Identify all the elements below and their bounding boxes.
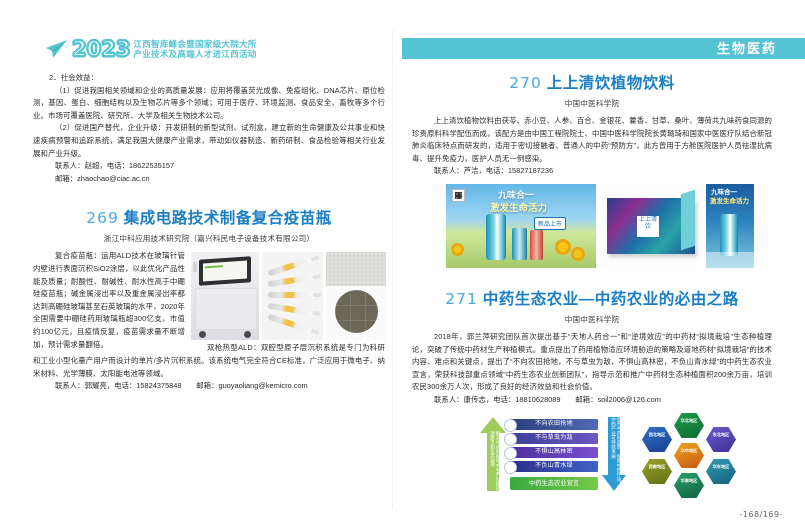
social-benefit-para-1: （1）促进我国相关领域和企业的高质量发展：应用将覆盖荧光成像、免疫组化、DNA芯…	[33, 85, 385, 123]
section-271-title: 271 中药生态农业—中药农业的必由之路	[412, 288, 772, 311]
slogan-text: 不向农田抢地	[535, 421, 573, 427]
hex-region-xinan: 西南地区	[642, 459, 672, 485]
section-271-diagram: 解决中药材掠夺式生产造成的资源匮乏和生态破坏 提升中药材品质，保障中药疗效，促进…	[412, 413, 772, 501]
left-column: 2．社会效益： （1）促进我国相关领域和企业的高质量发展：应用将覆盖荧光成像、免…	[33, 72, 385, 393]
sunflower-field-poster: 九味合一 激发生命活力 新品上市	[446, 184, 596, 268]
page-gutter	[392, 30, 393, 510]
section-270-product-images: 九味合一 激发生命活力 新品上市 上上清饮 九味合一 激发生命活力	[412, 184, 772, 268]
slogan-bar: 不与草虫为敌	[510, 433, 598, 444]
machine-body	[195, 288, 257, 330]
sunflower-icon	[574, 250, 582, 258]
declaration-banner: 中药生态农业宣言	[510, 477, 598, 490]
gift-box-photo: 上上清饮	[601, 184, 701, 268]
section-270-contact: 联系人：芦洁，电话：15827187236	[412, 165, 772, 178]
beverage-can-ice	[720, 214, 738, 256]
section-271-contact: 联系人：康传志，电话：18810628089 邮箱：soil2006@126.c…	[412, 394, 772, 407]
category-label: 生物医药	[717, 40, 777, 57]
machine-control-panel	[199, 257, 251, 287]
hex-region-huadong: 华东地区	[706, 459, 736, 485]
section-270-title: 270 上上清饮植物饮料	[412, 72, 772, 95]
machine-side-port	[193, 262, 197, 272]
section-269-name: 集成电路技术制备复合疫苗瓶	[124, 210, 332, 227]
left-arrow-text: 解决中药材掠夺式生产造成的资源匮乏和生态破坏	[485, 431, 501, 499]
gift-box-label: 上上清饮	[637, 216, 659, 237]
hex-region-huabei: 华北地区	[674, 413, 704, 439]
section-269-title: 269 集成电路技术制备复合疫苗瓶	[33, 207, 385, 230]
section-270-org: 中国中医科学院	[412, 98, 772, 109]
regional-hexagon-diagram: 华北地区 东北地区 西北地区 华中地区 华东地区 西南地区 华南	[640, 413, 740, 499]
qr-code-icon	[452, 189, 465, 202]
poster-line-2: 激发生命活力	[490, 203, 547, 214]
machine-wheel	[199, 331, 206, 338]
logo-subtitle: 江西智库峰会暨国家级大院大所 产业技术及高端人才进江西活动	[133, 39, 256, 60]
section-269-number: 269	[86, 209, 119, 227]
section-269-images	[191, 252, 386, 340]
beverage-can-second	[512, 228, 527, 260]
section-270-number: 270	[509, 74, 542, 92]
poster-line-1: 九味合一	[498, 190, 534, 201]
hex-region-dongbei: 东北地区	[706, 427, 736, 453]
year-2023: 2023	[72, 39, 130, 60]
slogan-bar: 不向农田抢地	[510, 419, 598, 430]
hex-region-name: 华南地区	[681, 478, 698, 483]
section-269-text-column: 复合疫苗瓶：运用ALD技术在玻璃针管内壁进行表面沉积SiO2涂层，以此优化产品性…	[33, 250, 185, 351]
slogan-bar: 不负山青水绿	[510, 461, 598, 472]
slogan-bar: 不惧山高林密	[510, 447, 598, 458]
slogan-text: 不惧山高林密	[535, 449, 573, 455]
section-269-figure-block: 复合疫苗瓶：运用ALD技术在玻璃针管内壁进行表面沉积SiO2涂层，以此优化产品性…	[33, 250, 385, 342]
section-270-name: 上上清饮植物饮料	[547, 75, 675, 92]
contact-line-268: 联系人：赵超，电话：18622535157	[33, 160, 385, 173]
slogan-bars: 不向农田抢地 不与草虫为敌 不惧山高林密 不负山青水绿	[510, 419, 598, 475]
ice-can-poster: 九味合一 激发生命活力	[706, 184, 754, 268]
hex-region-huanan: 华南地区	[674, 473, 704, 499]
logo-subtitle-line1: 江西智库峰会暨国家级大院大所	[133, 39, 256, 50]
hex-region-name: 华东地区	[713, 464, 730, 469]
hex-region-name: 华北地区	[681, 418, 698, 423]
mesh-texture	[326, 252, 386, 286]
section-271-para-1: 2018年，郭兰萍研究团队首次提出基于“天地人药合一”和“逆境效应”的中药材“拟…	[412, 331, 772, 394]
section-271-number: 271	[445, 290, 478, 308]
section-269-para-1: 复合疫苗瓶：运用ALD技术在玻璃针管内壁进行表面沉积SiO2涂层，以此优化产品性…	[33, 250, 185, 351]
hex-region-name: 西北地区	[649, 432, 666, 437]
section-271-org: 中国中医科学院	[412, 314, 772, 325]
social-benefit-heading: 2．社会效益：	[33, 72, 385, 85]
hex-region-name: 西南地区	[649, 464, 666, 469]
logo-subtitle-line2: 产业技术及高端人才进江西活动	[133, 49, 256, 60]
ald-equipment-photo	[191, 252, 259, 340]
brochure-page: 2023 江西智库峰会暨国家级大院大所 产业技术及高端人才进江西活动 生物医药 …	[0, 0, 805, 527]
section-270-para-1: 上上清饮植物饮料由茯苓、赤小豆、人参、百合、金银花、藿香、甘草、桑叶、薄荷共九味…	[412, 115, 772, 165]
sunflower-icon	[558, 242, 568, 252]
page-number: -168/169-	[739, 510, 783, 519]
sunflower-icon	[454, 246, 461, 253]
hex-region-xibei: 西北地区	[642, 427, 672, 453]
beverage-can-main	[486, 214, 506, 260]
vaccine-syringes-photo	[262, 252, 324, 340]
wafer-disc	[335, 290, 378, 333]
paper-plane-icon	[45, 39, 69, 59]
social-benefit-para-2: （2）促进国产替代，企业升级：开发研制的新型试剂、试剂盒，建立新的生命健康及公共…	[33, 122, 385, 160]
right-arrow-text: 提升中药材品质，保障中药疗效，促进中药产业可持续发展	[606, 417, 622, 499]
event-logo: 2023 江西智库峰会暨国家级大院大所 产业技术及高端人才进江西活动	[45, 38, 257, 60]
hex-region-name: 华中地区	[681, 448, 698, 453]
coated-wafer-photo	[326, 252, 386, 340]
right-column: 270 上上清饮植物饮料 中国中医科学院 上上清饮植物饮料由茯苓、赤小豆、人参、…	[412, 72, 772, 501]
poster-badge: 新品上市	[534, 217, 566, 230]
ice-poster-line-1: 九味合一	[711, 189, 737, 197]
machine-wheel	[244, 331, 251, 338]
hex-region-name: 东北地区	[713, 432, 730, 437]
ice-poster-line-2: 激发生命活力	[710, 198, 749, 206]
ice-cubes	[706, 252, 754, 268]
hex-region-huazhong: 华中地区	[674, 443, 704, 469]
section-271-name: 中药生态农业—中药农业的必由之路	[483, 291, 739, 308]
beverage-can-third	[530, 230, 543, 260]
section-269-org: 浙江中科应用技术研究院（嘉兴科民电子设备技术有限公司）	[33, 233, 385, 244]
category-banner: 生物医药	[402, 38, 805, 59]
email-line-268: 邮箱：zhaochao@ciac.ac.cn	[33, 173, 385, 186]
section-269-contact: 联系人：郭耀亮，电话：15824375848 邮箱：guoyaoliang@ke…	[33, 380, 385, 393]
slogan-text: 不负山青水绿	[535, 463, 573, 469]
slogan-text: 不与草虫为敌	[535, 435, 573, 441]
eco-agriculture-declaration-diagram: 解决中药材掠夺式生产造成的资源匮乏和生态破坏 提升中药材品质，保障中药疗效，促进…	[480, 413, 630, 499]
